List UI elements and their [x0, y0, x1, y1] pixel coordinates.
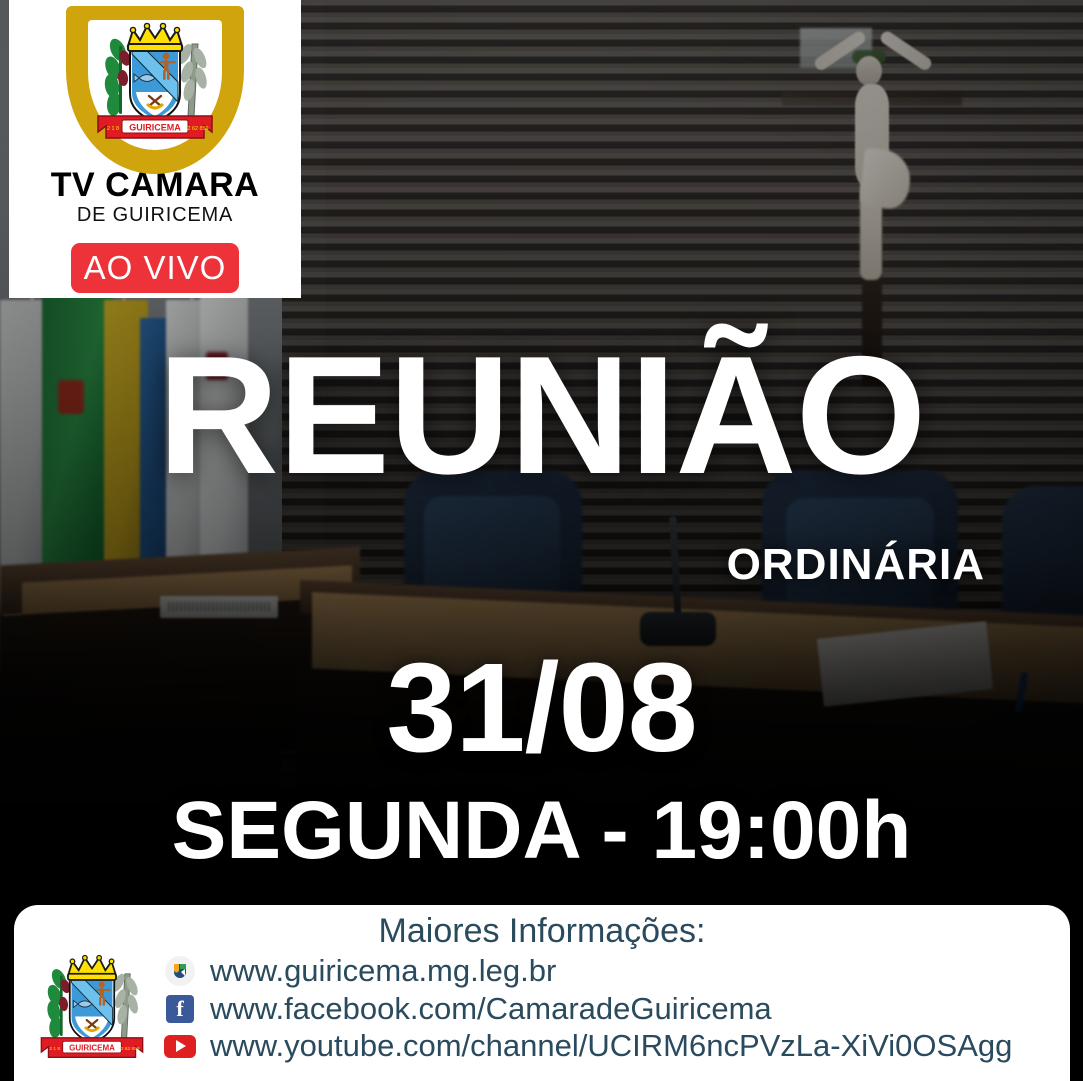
guiricema-coat-of-arms: GUIRICEMA 2 1 8 2 62 859 — [92, 20, 218, 154]
svg-text:2 62 859: 2 62 859 — [121, 1047, 140, 1053]
list-item[interactable]: www.youtube.com/channel/UCIRM6ncPVzLa-Xi… — [164, 1029, 1012, 1062]
info-title: Maiores Informações: — [14, 913, 1070, 950]
svg-text:2 1 8: 2 1 8 — [49, 1047, 60, 1053]
youtube-icon — [164, 1030, 196, 1062]
facebook-icon: f — [164, 993, 196, 1025]
svg-text:2 62 859: 2 62 859 — [188, 126, 209, 132]
website-url: www.guiricema.mg.leg.br — [210, 954, 556, 987]
tv-camara-logo-card: GUIRICEMA 2 1 8 2 62 859 TV CÂMARA DE GU… — [9, 0, 301, 298]
contact-info-panel: Maiores Informações: — [14, 905, 1070, 1081]
list-item[interactable]: www.guiricema.mg.leg.br — [164, 954, 1012, 987]
headline-main: REUNIÃO — [0, 342, 1083, 490]
svg-text:2 1 8: 2 1 8 — [107, 126, 119, 132]
website-icon — [164, 955, 196, 987]
contact-links: www.guiricema.mg.leg.br f www.facebook.c… — [164, 952, 1012, 1066]
list-item[interactable]: f www.facebook.com/CamaradeGuiricema — [164, 992, 1012, 1025]
live-session-announcement-poster: GUIRICEMA 2 1 8 2 62 859 TV CÂMARA DE GU… — [0, 0, 1083, 1081]
shield-emblem: GUIRICEMA 2 1 8 2 62 859 — [66, 6, 244, 174]
facebook-url: www.facebook.com/CamaradeGuiricema — [210, 992, 772, 1025]
logo-subtitle: DE GUIRICEMA — [77, 205, 233, 225]
event-daytime: SEGUNDA - 19:00h — [0, 790, 1083, 872]
headline-block: REUNIÃO ORDINÁRIA 31/08 SEGUNDA - 19:00h — [0, 342, 1083, 490]
live-badge: AO VIVO — [71, 243, 239, 293]
youtube-url: www.youtube.com/channel/UCIRM6ncPVzLa-Xi… — [210, 1029, 1012, 1062]
event-date: 31/08 — [0, 645, 1083, 771]
guiricema-coat-of-arms: GUIRICEMA 2 1 8 2 62 859 — [36, 950, 148, 1074]
svg-text:GUIRICEMA: GUIRICEMA — [69, 1044, 115, 1053]
svg-text:GUIRICEMA: GUIRICEMA — [129, 123, 181, 133]
headline-kind: ORDINÁRIA — [727, 540, 985, 590]
